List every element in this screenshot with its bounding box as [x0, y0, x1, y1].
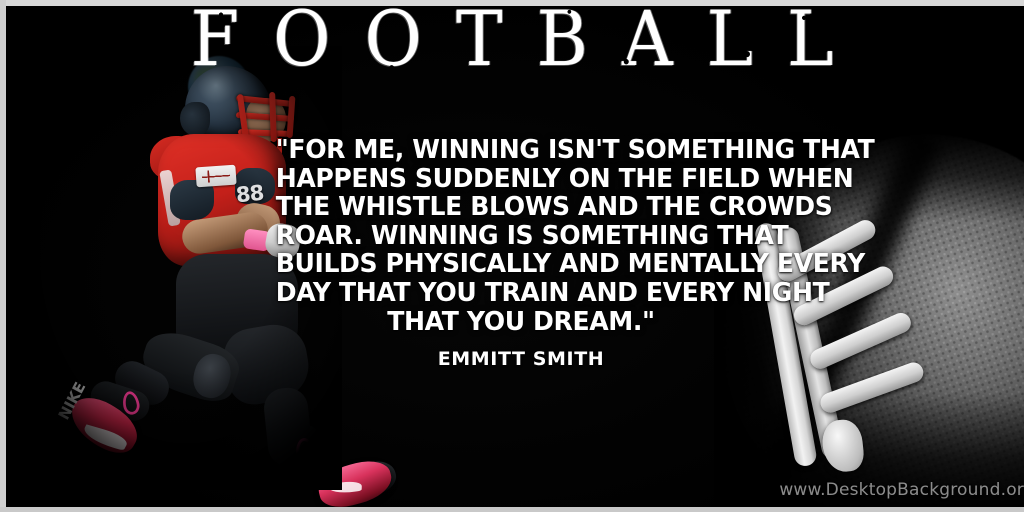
- quote-line: BUILDS PHYSICALLY AND MENTALLY EVERY: [276, 250, 767, 279]
- lace-rung: [807, 310, 914, 372]
- quote-line: HAPPENS SUDDENLY ON THE FIELD WHEN: [276, 165, 767, 194]
- quote-line: "FOR ME, WINNING ISN'T SOMETHING THAT: [276, 136, 767, 165]
- lace-rung: [818, 360, 926, 416]
- quote-line: ROAR. WINNING IS SOMETHING THAT: [276, 222, 767, 251]
- quote-attribution: EMMITT SMITH: [272, 348, 770, 370]
- frame-edge-bottom: [0, 507, 1024, 512]
- jersey-patch: [195, 165, 236, 188]
- quote-block: "FOR ME, WINNING ISN'T SOMETHING THAT HA…: [272, 136, 770, 370]
- quote-line: THE WHISTLE BLOWS AND THE CROWDS: [276, 193, 767, 222]
- quote-line: THAT YOU DREAM.": [276, 308, 767, 337]
- helmet-earhole: [180, 102, 210, 136]
- frame-edge-top: [0, 0, 1024, 6]
- quote-line: DAY THAT YOU TRAIN AND EVERY NIGHT: [276, 279, 767, 308]
- frame-edge-left: [0, 0, 6, 512]
- wallpaper-canvas: 88 NIKE FOOTBALL "FOR ME, WINNING ISN'T …: [0, 0, 1024, 512]
- site-watermark: www.DesktopBackground.or: [779, 480, 1024, 500]
